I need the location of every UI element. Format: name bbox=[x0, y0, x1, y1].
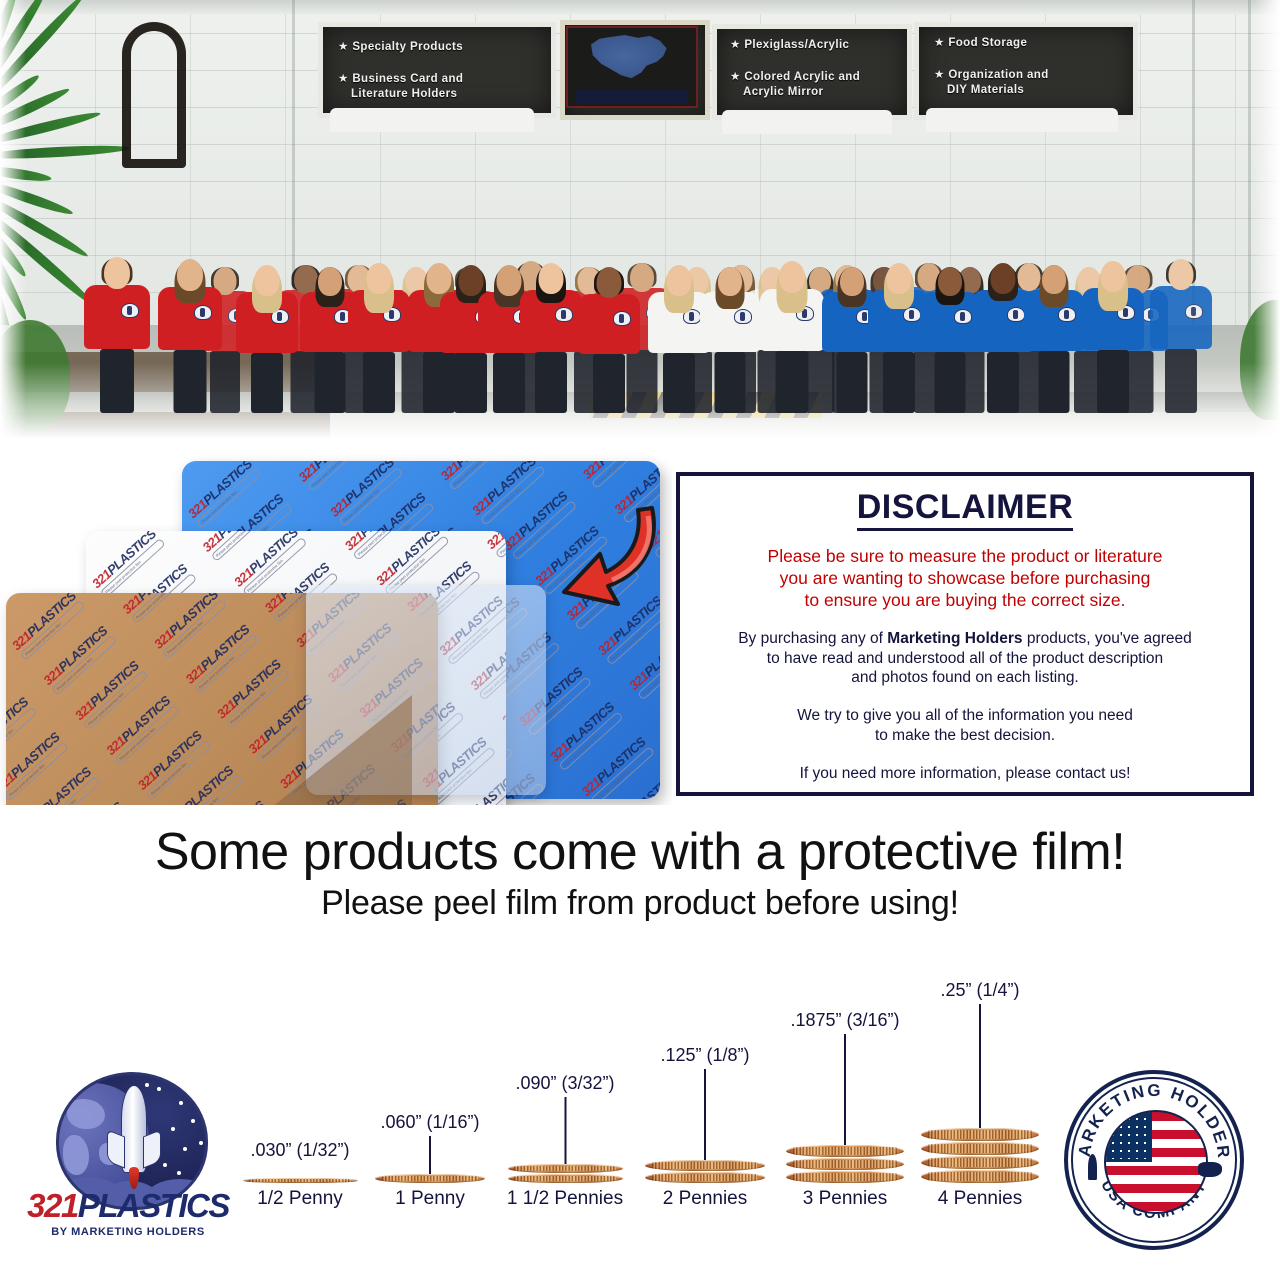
disclaimer-paragraph-2: By purchasing any of Marketing Holders p… bbox=[696, 629, 1234, 688]
disclaimer-text: and photos found on each listing. bbox=[851, 669, 1079, 686]
sign-line: Business Card and bbox=[352, 73, 463, 85]
penny-coin bbox=[921, 1142, 1039, 1155]
penny-measurement-label: .25” (1/4”) bbox=[940, 980, 1019, 1001]
person-legs bbox=[987, 352, 1019, 413]
wall-seam bbox=[1248, 0, 1251, 330]
photo-right-fade bbox=[1254, 0, 1280, 455]
person bbox=[920, 263, 980, 413]
shirt-logo-icon bbox=[194, 305, 212, 320]
disclaimer-red-line: you are wanting to showcase before purch… bbox=[780, 568, 1151, 588]
person bbox=[700, 263, 760, 413]
person bbox=[236, 261, 298, 413]
penny-caption: 2 Pennies bbox=[663, 1188, 748, 1210]
penny-measurement-label: .090” (3/32”) bbox=[515, 1073, 614, 1094]
star-icon: ★ bbox=[338, 73, 349, 85]
logo-number: 321 bbox=[27, 1187, 78, 1224]
sign-specialty-products: ★ Specialty Products ★ Business Card and… bbox=[338, 40, 463, 103]
leader-line bbox=[704, 1069, 706, 1161]
penny-caption: 1 Penny bbox=[395, 1188, 465, 1210]
red-arrow-icon bbox=[556, 500, 666, 620]
page-subheadline: Please peel film from product before usi… bbox=[0, 886, 1280, 920]
person-legs bbox=[315, 352, 346, 413]
penny-column: .25” (1/4”)4 Pennies bbox=[901, 960, 1059, 1210]
shirt-logo-icon bbox=[903, 307, 921, 322]
disclaimer-box: DISCLAIMER Please be sure to measure the… bbox=[676, 472, 1254, 796]
shirt-logo-icon bbox=[613, 311, 631, 326]
penny-stack bbox=[645, 1160, 765, 1184]
person-legs bbox=[883, 352, 915, 413]
logo-word: PLASTICS bbox=[78, 1187, 229, 1224]
logo-tagline: BY MARKETING HOLDERS bbox=[22, 1226, 234, 1238]
sign-plexiglass-acrylic: ★ Plexiglass/Acrylic ★ Colored Acrylic a… bbox=[730, 38, 860, 101]
penny-measurement-label: .125” (1/8”) bbox=[660, 1045, 749, 1066]
person-head bbox=[667, 265, 692, 296]
person bbox=[84, 253, 150, 413]
person bbox=[520, 259, 582, 413]
logo-321-plastics: 321PLASTICS BY MARKETING HOLDERS bbox=[22, 1072, 234, 1248]
disclaimer-text: to make the best decision. bbox=[875, 727, 1055, 744]
disclaimer-text: products, you've agreed bbox=[1023, 630, 1192, 647]
person-head bbox=[539, 263, 564, 294]
person bbox=[760, 257, 824, 413]
penny-measurement-label: .030” (1/32”) bbox=[250, 1140, 349, 1161]
poster-brand-bar bbox=[576, 90, 688, 104]
shirt-logo-icon bbox=[734, 309, 752, 324]
globe-landmass bbox=[67, 1099, 105, 1129]
person-head bbox=[840, 267, 864, 296]
page-headline: Some products come with a protective fil… bbox=[0, 826, 1280, 878]
penny-column: .090” (3/32”)1 1/2 Pennies bbox=[488, 960, 643, 1210]
star-icon bbox=[177, 1171, 181, 1175]
person-head bbox=[1101, 261, 1126, 292]
penny-stack bbox=[786, 1145, 904, 1184]
person-head bbox=[779, 261, 805, 293]
person-head bbox=[177, 259, 203, 291]
window-panel bbox=[330, 108, 534, 132]
person-head bbox=[887, 263, 912, 294]
roof-edge bbox=[0, 0, 1280, 14]
star-icon: ★ bbox=[934, 69, 945, 81]
leader-line bbox=[564, 1097, 566, 1165]
penny-stack bbox=[243, 1178, 358, 1184]
penny-stack bbox=[921, 1128, 1039, 1184]
disclaimer-red-line: to ensure you are buying the correct siz… bbox=[804, 590, 1125, 610]
badge-rocket-icon bbox=[1088, 1154, 1097, 1180]
person-legs bbox=[776, 351, 809, 413]
leader-line bbox=[429, 1136, 431, 1175]
usa-map-shape bbox=[586, 34, 670, 82]
sign-line: Organization and bbox=[948, 69, 1048, 81]
sign-line: Acrylic Mirror bbox=[743, 86, 823, 98]
disclaimer-text: We try to give you all of the informatio… bbox=[797, 707, 1133, 724]
photo-left-fade bbox=[0, 0, 26, 455]
penny-coin bbox=[645, 1172, 765, 1183]
logo-321-wordmark: 321PLASTICS bbox=[22, 1189, 234, 1222]
window-panel bbox=[926, 108, 1118, 132]
shirt-logo-icon bbox=[555, 307, 573, 322]
disclaimer-red-line: Please be sure to measure the product or… bbox=[768, 546, 1163, 566]
shirt-logo-icon bbox=[954, 309, 972, 324]
sign-line: DIY Materials bbox=[947, 84, 1024, 96]
disclaimer-title: DISCLAIMER bbox=[857, 490, 1074, 531]
globe-landmass bbox=[63, 1135, 89, 1175]
person bbox=[578, 263, 640, 413]
person-head bbox=[367, 263, 392, 294]
star-icon bbox=[187, 1081, 191, 1085]
penny-coin bbox=[786, 1171, 904, 1183]
person-legs bbox=[363, 352, 395, 413]
sign-line: Food Storage bbox=[948, 37, 1027, 49]
penny-coin bbox=[786, 1145, 904, 1157]
flag-union bbox=[1106, 1112, 1152, 1162]
penny-coin bbox=[921, 1170, 1039, 1183]
person bbox=[1024, 261, 1084, 413]
sign-line: Specialty Products bbox=[352, 41, 463, 53]
leader-line bbox=[844, 1034, 846, 1146]
person-legs bbox=[715, 352, 746, 413]
penny-caption: 3 Pennies bbox=[803, 1188, 888, 1210]
star-icon bbox=[179, 1101, 183, 1105]
star-icon bbox=[195, 1091, 199, 1095]
penny-coin bbox=[375, 1174, 485, 1183]
star-icon bbox=[163, 1163, 167, 1167]
person-legs bbox=[837, 352, 868, 413]
person-legs bbox=[1165, 349, 1197, 413]
leader-line bbox=[979, 1004, 981, 1129]
person-head bbox=[318, 267, 342, 296]
penny-coin bbox=[243, 1178, 358, 1183]
penny-measurement-label: .1875” (3/16”) bbox=[790, 1010, 899, 1031]
disclaimer-paragraph-3: We try to give you all of the informatio… bbox=[696, 706, 1234, 746]
address-numeral bbox=[128, 20, 190, 168]
usa-map-poster bbox=[566, 26, 698, 108]
shirt-logo-icon bbox=[1185, 304, 1203, 319]
star-icon: ★ bbox=[934, 37, 945, 49]
sign-line: Literature Holders bbox=[351, 88, 457, 100]
person-legs bbox=[935, 352, 966, 413]
star-icon bbox=[191, 1119, 195, 1123]
star-icon: ★ bbox=[730, 39, 741, 51]
penny-column: .060” (1/16”)1 Penny bbox=[355, 960, 505, 1210]
person-legs bbox=[1097, 350, 1129, 413]
disclaimer-text: to have read and understood all of the p… bbox=[767, 650, 1163, 667]
star-icon: ★ bbox=[338, 41, 349, 53]
person bbox=[158, 255, 222, 413]
person-legs bbox=[535, 352, 567, 413]
person-head bbox=[1042, 265, 1066, 294]
person-head bbox=[991, 263, 1016, 294]
sign-line: Colored Acrylic and bbox=[744, 71, 860, 83]
person-legs bbox=[663, 353, 695, 413]
person-legs bbox=[593, 354, 625, 413]
star-icon bbox=[171, 1127, 175, 1131]
person-head bbox=[718, 267, 742, 296]
sign-line: Plexiglass/Acrylic bbox=[744, 39, 849, 51]
star-icon: ★ bbox=[730, 71, 741, 83]
penny-coin bbox=[645, 1160, 765, 1171]
shirt-logo-icon bbox=[1058, 307, 1076, 322]
person-head bbox=[1169, 259, 1194, 290]
penny-coin bbox=[508, 1164, 623, 1173]
person-head bbox=[255, 265, 280, 296]
penny-coin bbox=[921, 1156, 1039, 1169]
logo-marketing-holders: MARKETING HOLDERS USA COMPANY bbox=[1064, 1070, 1244, 1250]
rocket-fin bbox=[143, 1129, 161, 1168]
person-legs bbox=[174, 350, 207, 413]
brand-name: Marketing Holders bbox=[887, 630, 1022, 647]
penny-stack bbox=[508, 1164, 623, 1184]
window-panel bbox=[722, 110, 892, 134]
penny-caption: 1/2 Penny bbox=[257, 1188, 343, 1210]
person-head bbox=[104, 257, 130, 289]
star-icon bbox=[157, 1087, 161, 1091]
badge-usa-map-icon bbox=[1198, 1162, 1222, 1177]
person-head bbox=[597, 267, 622, 298]
shirt-logo-icon bbox=[121, 303, 139, 318]
star-icon bbox=[145, 1083, 149, 1087]
team-photo: ★ Specialty Products ★ Business Card and… bbox=[0, 0, 1280, 455]
penny-caption: 4 Pennies bbox=[938, 1188, 1023, 1210]
person bbox=[1082, 257, 1144, 413]
sign-food-storage: ★ Food Storage ★ Organization and DIY Ma… bbox=[934, 36, 1049, 99]
flag-stars bbox=[1109, 1115, 1149, 1159]
penny-coin bbox=[921, 1128, 1039, 1141]
penny-caption: 1 1/2 Pennies bbox=[507, 1188, 623, 1210]
us-flag-icon bbox=[1104, 1110, 1208, 1214]
penny-column: .125” (1/8”)2 Pennies bbox=[625, 960, 785, 1210]
penny-measurement-label: .060” (1/16”) bbox=[380, 1112, 479, 1133]
disclaimer-red-text: Please be sure to measure the product or… bbox=[696, 545, 1234, 611]
person bbox=[348, 259, 410, 413]
disclaimer-paragraph-4: If you need more information, please con… bbox=[696, 764, 1234, 784]
person-shirt bbox=[578, 294, 640, 354]
person-legs bbox=[251, 353, 283, 413]
person-shirt bbox=[84, 285, 150, 349]
star-icon bbox=[183, 1147, 187, 1151]
star-icon bbox=[199, 1141, 203, 1145]
disclaimer-text: By purchasing any of bbox=[738, 630, 887, 647]
penny-coin bbox=[508, 1174, 623, 1183]
penny-coin bbox=[786, 1158, 904, 1170]
penny-stack bbox=[375, 1174, 485, 1184]
person bbox=[1150, 255, 1212, 413]
person-head bbox=[497, 265, 522, 296]
shirt-logo-icon bbox=[1007, 307, 1025, 322]
person-shirt bbox=[1150, 286, 1212, 349]
person-legs bbox=[1039, 351, 1070, 413]
person-legs bbox=[100, 349, 134, 413]
person-head bbox=[938, 267, 962, 296]
